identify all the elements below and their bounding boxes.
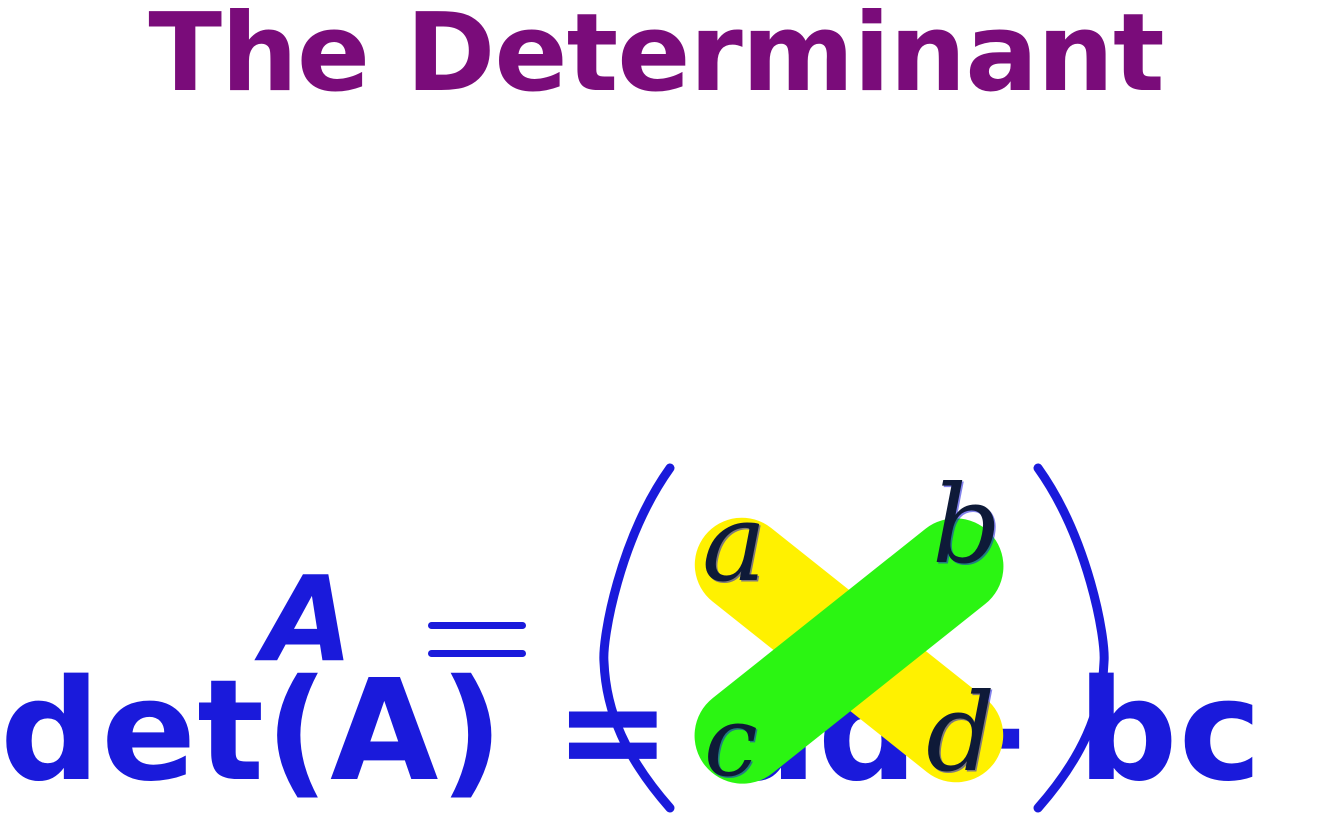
determinant-slide: The Determinant A a b c d det( bbox=[0, 0, 1342, 829]
matrix-cell-d: d bbox=[926, 680, 995, 788]
matrix-equation: A a b c d bbox=[0, 230, 1342, 590]
matrix-cell-a: a bbox=[702, 490, 766, 598]
matrix-cell-b: b bbox=[932, 472, 1001, 580]
matrix-cell-c: c bbox=[704, 694, 758, 790]
determinant-formula: det(A) = ad - bc bbox=[0, 648, 1342, 816]
equals-bar-top bbox=[428, 622, 526, 629]
page-title: The Determinant bbox=[0, 0, 1342, 115]
